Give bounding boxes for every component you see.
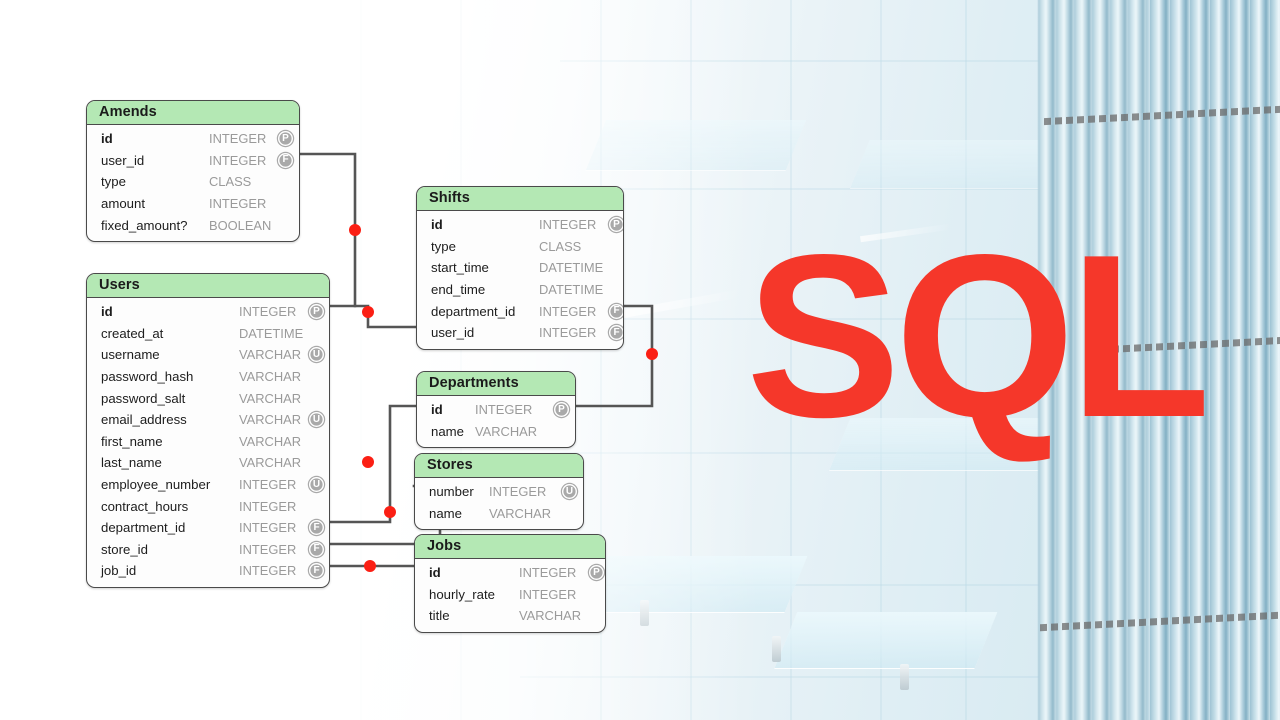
erd-column-name: created_at bbox=[101, 326, 239, 341]
junction-dot bbox=[362, 306, 374, 318]
junction-dot bbox=[646, 348, 658, 360]
junction-dot bbox=[364, 560, 376, 572]
erd-column-row[interactable]: first_nameVARCHAR bbox=[87, 431, 329, 453]
erd-column-name: hourly_rate bbox=[429, 587, 519, 602]
key-badge-u: U bbox=[309, 477, 324, 492]
erd-column-row[interactable]: created_atDATETIME bbox=[87, 323, 329, 345]
erd-column-name: start_time bbox=[431, 260, 539, 275]
erd-column-row[interactable]: job_idINTEGERF bbox=[87, 560, 329, 582]
erd-column-list: numberINTEGERUnameVARCHAR bbox=[415, 478, 583, 529]
erd-column-row[interactable]: contract_hoursINTEGER bbox=[87, 495, 329, 517]
erd-column-type: INTEGER bbox=[519, 565, 589, 580]
erd-column-type: DATETIME bbox=[239, 326, 309, 341]
erd-table-title: Departments bbox=[417, 372, 575, 396]
erd-column-name: last_name bbox=[101, 455, 239, 470]
erd-column-type: VARCHAR bbox=[475, 424, 541, 439]
erd-column-name: department_id bbox=[431, 304, 539, 319]
erd-column-row[interactable]: last_nameVARCHAR bbox=[87, 452, 329, 474]
erd-column-type: VARCHAR bbox=[239, 347, 309, 362]
erd-column-row[interactable]: end_timeDATETIME bbox=[417, 279, 623, 301]
erd-column-list: idINTEGERPtypeCLASSstart_timeDATETIMEend… bbox=[417, 211, 623, 349]
erd-column-name: department_id bbox=[101, 520, 239, 535]
erd-column-name: first_name bbox=[101, 434, 239, 449]
erd-column-name: end_time bbox=[431, 282, 539, 297]
erd-column-list: idINTEGERPhourly_rateINTEGERtitleVARCHAR bbox=[415, 559, 605, 632]
key-badge-f: F bbox=[609, 304, 624, 319]
erd-column-row[interactable]: user_idINTEGERF bbox=[87, 150, 299, 172]
erd-column-name: number bbox=[429, 484, 489, 499]
erd-column-row[interactable]: typeCLASS bbox=[87, 171, 299, 193]
erd-column-row[interactable]: fixed_amount?BOOLEAN bbox=[87, 214, 299, 236]
erd-column-type: VARCHAR bbox=[239, 412, 309, 427]
erd-column-type: INTEGER bbox=[539, 325, 609, 340]
erd-table-departments[interactable]: DepartmentsidINTEGERPnameVARCHAR bbox=[416, 371, 576, 448]
erd-column-type: INTEGER bbox=[539, 217, 609, 232]
erd-column-name: email_address bbox=[101, 412, 239, 427]
erd-column-name: id bbox=[101, 304, 239, 319]
erd-column-row[interactable]: idINTEGERP bbox=[415, 562, 605, 584]
erd-column-name: contract_hours bbox=[101, 499, 239, 514]
erd-column-type: INTEGER bbox=[489, 484, 555, 499]
erd-column-row[interactable]: numberINTEGERU bbox=[415, 481, 583, 503]
erd-column-row[interactable]: start_timeDATETIME bbox=[417, 257, 623, 279]
erd-table-amends[interactable]: AmendsidINTEGERPuser_idINTEGERFtypeCLASS… bbox=[86, 100, 300, 242]
erd-column-row[interactable]: nameVARCHAR bbox=[417, 421, 575, 443]
erd-column-name: id bbox=[431, 217, 539, 232]
erd-table-title: Amends bbox=[87, 101, 299, 125]
erd-column-row[interactable]: department_idINTEGERF bbox=[417, 300, 623, 322]
erd-column-name: amount bbox=[101, 196, 209, 211]
erd-column-row[interactable]: idINTEGERP bbox=[417, 214, 623, 236]
erd-column-type: VARCHAR bbox=[239, 369, 309, 384]
erd-column-name: employee_number bbox=[101, 477, 239, 492]
erd-column-type: CLASS bbox=[209, 174, 275, 189]
erd-column-list: idINTEGERPnameVARCHAR bbox=[417, 396, 575, 447]
erd-column-type: VARCHAR bbox=[239, 455, 309, 470]
erd-column-type: INTEGER bbox=[209, 131, 275, 146]
key-badge-u: U bbox=[309, 347, 324, 362]
erd-table-jobs[interactable]: JobsidINTEGERPhourly_rateINTEGERtitleVAR… bbox=[414, 534, 606, 633]
key-badge-f: F bbox=[309, 563, 324, 578]
erd-table-users[interactable]: UsersidINTEGERPcreated_atDATETIMEusernam… bbox=[86, 273, 330, 588]
erd-column-list: idINTEGERPuser_idINTEGERFtypeCLASSamount… bbox=[87, 125, 299, 241]
erd-table-title: Stores bbox=[415, 454, 583, 478]
erd-column-type: INTEGER bbox=[239, 520, 309, 535]
erd-column-name: name bbox=[429, 506, 489, 521]
erd-column-type: BOOLEAN bbox=[209, 218, 275, 233]
erd-canvas: SQL AmendsidINTEGERPuser_idINTEGERFtyp bbox=[0, 0, 1280, 720]
erd-column-type: DATETIME bbox=[539, 260, 609, 275]
erd-table-title: Shifts bbox=[417, 187, 623, 211]
erd-column-type: INTEGER bbox=[519, 587, 589, 602]
erd-column-type: DATETIME bbox=[539, 282, 609, 297]
erd-column-name: username bbox=[101, 347, 239, 362]
key-badge-f: F bbox=[309, 542, 324, 557]
erd-column-name: fixed_amount? bbox=[101, 218, 209, 233]
erd-column-type: INTEGER bbox=[475, 402, 541, 417]
erd-column-row[interactable]: employee_numberINTEGERU bbox=[87, 474, 329, 496]
erd-column-type: VARCHAR bbox=[519, 608, 589, 623]
junction-dot bbox=[384, 506, 396, 518]
key-badge-p: P bbox=[609, 217, 624, 232]
junction-dot bbox=[362, 456, 374, 468]
erd-column-name: name bbox=[431, 424, 475, 439]
erd-column-row[interactable]: titleVARCHAR bbox=[415, 605, 605, 627]
erd-table-title: Jobs bbox=[415, 535, 605, 559]
erd-column-name: password_salt bbox=[101, 391, 239, 406]
erd-column-name: user_id bbox=[431, 325, 539, 340]
erd-column-name: store_id bbox=[101, 542, 239, 557]
erd-column-type: INTEGER bbox=[239, 477, 309, 492]
erd-column-row[interactable]: typeCLASS bbox=[417, 236, 623, 258]
erd-column-name: id bbox=[101, 131, 209, 146]
erd-table-stores[interactable]: StoresnumberINTEGERUnameVARCHAR bbox=[414, 453, 584, 530]
erd-column-type: CLASS bbox=[539, 239, 609, 254]
erd-column-type: INTEGER bbox=[209, 196, 275, 211]
key-badge-p: P bbox=[309, 304, 324, 319]
erd-column-name: type bbox=[431, 239, 539, 254]
erd-column-list: idINTEGERPcreated_atDATETIMEusernameVARC… bbox=[87, 298, 329, 587]
erd-column-name: type bbox=[101, 174, 209, 189]
erd-column-type: INTEGER bbox=[239, 304, 309, 319]
key-badge-u: U bbox=[309, 412, 324, 427]
erd-column-row[interactable]: nameVARCHAR bbox=[415, 503, 583, 525]
erd-column-row[interactable]: hourly_rateINTEGER bbox=[415, 584, 605, 606]
junction-dot bbox=[349, 224, 361, 236]
key-badge-p: P bbox=[278, 131, 293, 146]
erd-column-row[interactable]: user_idINTEGERF bbox=[417, 322, 623, 344]
key-badge-p: P bbox=[554, 402, 569, 417]
key-badge-p: P bbox=[589, 565, 604, 580]
erd-column-row[interactable]: email_addressVARCHARU bbox=[87, 409, 329, 431]
erd-table-title: Users bbox=[87, 274, 329, 298]
erd-table-shifts[interactable]: ShiftsidINTEGERPtypeCLASSstart_timeDATET… bbox=[416, 186, 624, 350]
erd-column-row[interactable]: department_idINTEGERF bbox=[87, 517, 329, 539]
erd-column-row[interactable]: usernameVARCHARU bbox=[87, 344, 329, 366]
erd-column-type: VARCHAR bbox=[489, 506, 555, 521]
erd-column-type: INTEGER bbox=[239, 542, 309, 557]
erd-column-name: id bbox=[431, 402, 475, 417]
erd-column-name: user_id bbox=[101, 153, 209, 168]
erd-column-row[interactable]: idINTEGERP bbox=[417, 399, 575, 421]
erd-column-name: job_id bbox=[101, 563, 239, 578]
key-badge-u: U bbox=[562, 484, 577, 499]
erd-column-row[interactable]: password_saltVARCHAR bbox=[87, 387, 329, 409]
erd-column-type: VARCHAR bbox=[239, 391, 309, 406]
erd-column-row[interactable]: amountINTEGER bbox=[87, 193, 299, 215]
erd-column-type: INTEGER bbox=[539, 304, 609, 319]
erd-column-type: VARCHAR bbox=[239, 434, 309, 449]
erd-column-row[interactable]: store_idINTEGERF bbox=[87, 539, 329, 561]
erd-column-name: title bbox=[429, 608, 519, 623]
key-badge-f: F bbox=[278, 153, 293, 168]
erd-column-row[interactable]: idINTEGERP bbox=[87, 301, 329, 323]
erd-column-type: INTEGER bbox=[239, 499, 309, 514]
erd-column-name: password_hash bbox=[101, 369, 239, 384]
erd-column-name: id bbox=[429, 565, 519, 580]
key-badge-f: F bbox=[609, 325, 624, 340]
erd-column-row[interactable]: idINTEGERP bbox=[87, 128, 299, 150]
key-badge-f: F bbox=[309, 520, 324, 535]
erd-column-type: INTEGER bbox=[209, 153, 275, 168]
erd-column-type: INTEGER bbox=[239, 563, 309, 578]
erd-column-row[interactable]: password_hashVARCHAR bbox=[87, 366, 329, 388]
